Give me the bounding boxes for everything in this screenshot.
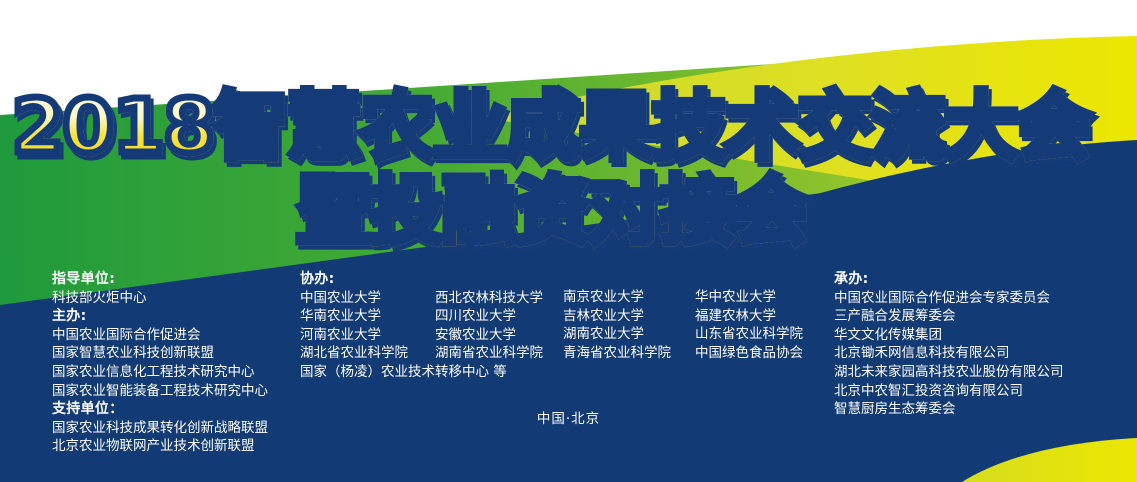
poster-banner: 2018智慧农业成果技术交流大会 2018智慧农业成果技术交流大会 暨投融资对接… xyxy=(0,0,1137,482)
org-item: 科技部火炬中心 xyxy=(52,289,268,308)
heading-undertaker: 承办: xyxy=(834,270,1064,289)
org-item: 华中农业大学 xyxy=(695,288,803,307)
column-coorganizers: 协办: 中国农业大学 西北农林科技大学 华南农业大学 四川农业大学 河南农业大学… xyxy=(300,270,543,382)
org-item: 湖南农业大学 xyxy=(563,325,695,344)
org-item: 湖南省农业科学院 xyxy=(435,344,543,363)
coorganizer-grid: 中国农业大学 西北农林科技大学 华南农业大学 四川农业大学 河南农业大学 安徽农… xyxy=(300,289,543,382)
org-item: 北京中农智汇投资咨询有限公司 xyxy=(834,382,1064,401)
venue-label: 中国·北京 xyxy=(0,407,1137,427)
org-item: 四川农业大学 xyxy=(435,307,543,326)
org-item: 西北农林科技大学 xyxy=(435,289,543,308)
org-item: 国家农业智能装备工程技术研究中心 xyxy=(52,382,268,401)
org-item: 湖北省农业科学院 xyxy=(300,344,435,363)
coorganizer-grid-2: 南京农业大学 华中农业大学 吉林农业大学 福建农林大学 湖南农业大学 山东省农业… xyxy=(563,288,803,362)
heading-host: 主办: xyxy=(52,307,268,326)
org-item: 中国农业国际合作促进会专家委员会 xyxy=(834,289,1064,308)
org-item: 三产融合发展筹委会 xyxy=(834,307,1064,326)
org-item: 国家智慧农业科技创新联盟 xyxy=(52,344,268,363)
org-item: 北京农业物联网产业技术创新联盟 xyxy=(52,437,268,456)
org-item: 青海省农业科学院 xyxy=(563,344,695,363)
org-item: 华文文化传媒集团 xyxy=(834,326,1064,345)
org-item: 华南农业大学 xyxy=(300,307,435,326)
org-item: 中国农业国际合作促进会 xyxy=(52,326,268,345)
org-item: 吉林农业大学 xyxy=(563,307,695,326)
column-organizers-left: 指导单位: 科技部火炬中心 主办: 中国农业国际合作促进会 国家智慧农业科技创新… xyxy=(52,270,268,456)
heading-guidance: 指导单位: xyxy=(52,270,268,289)
heading-coorganizer: 协办: xyxy=(300,270,543,289)
org-item: 南京农业大学 xyxy=(563,288,695,307)
org-item: 国家农业信息化工程技术研究中心 xyxy=(52,363,268,382)
org-item: 福建农林大学 xyxy=(695,307,803,326)
column-coorganizers-2: 南京农业大学 华中农业大学 吉林农业大学 福建农林大学 湖南农业大学 山东省农业… xyxy=(563,288,803,362)
org-item: 中国绿色食品协会 xyxy=(695,344,803,363)
org-item: 安徽农业大学 xyxy=(435,326,543,345)
column-undertakers: 承办: 中国农业国际合作促进会专家委员会 三产融合发展筹委会 华文文化传媒集团 … xyxy=(834,270,1064,419)
org-item: 北京锄禾网信息科技有限公司 xyxy=(834,344,1064,363)
org-item: 国家（杨凌）农业技术转移中心 等 xyxy=(300,363,543,382)
org-item: 山东省农业科学院 xyxy=(695,325,803,344)
org-item: 中国农业大学 xyxy=(300,289,435,308)
org-item: 河南农业大学 xyxy=(300,326,435,345)
org-item: 湖北未来家园高科技农业股份有限公司 xyxy=(834,363,1064,382)
